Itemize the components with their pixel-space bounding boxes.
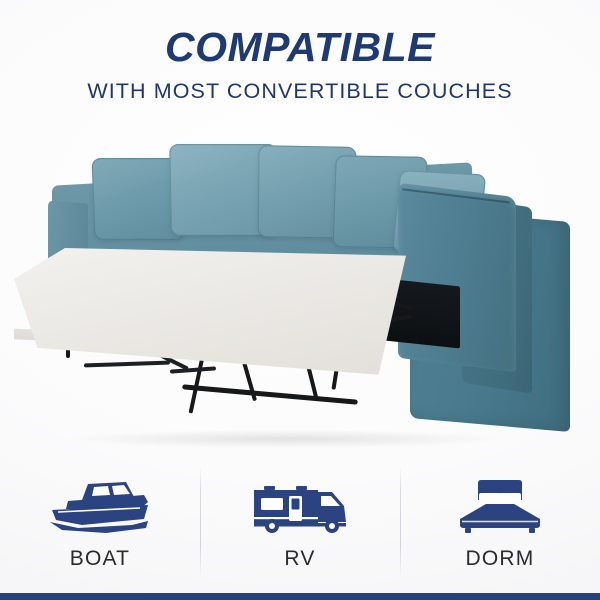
compatibility-icon-row: BOAT [0, 462, 600, 592]
bottom-accent-bar [0, 593, 600, 600]
rv-icon [248, 476, 352, 538]
icon-label-boat: BOAT [70, 547, 130, 571]
header: COMPATIBLE WITH MOST CONVERTIBLE COUCHES [0, 26, 600, 104]
icon-label-rv: RV [284, 547, 315, 571]
dorm-icon [448, 476, 552, 538]
compatibility-item-boat: BOAT [0, 462, 200, 592]
icon-label-dorm: DORM [466, 547, 535, 571]
boat-icon [48, 476, 152, 538]
compatibility-item-dorm: DORM [400, 462, 600, 592]
sleeper-sofa-photo [0, 130, 600, 460]
product-marketing-image: COMPATIBLE WITH MOST CONVERTIBLE COUCHES [0, 0, 600, 600]
ground-shadow [70, 430, 500, 448]
page-title: COMPATIBLE [0, 26, 600, 69]
page-subtitle: WITH MOST CONVERTIBLE COUCHES [0, 80, 600, 104]
compatibility-item-rv: RV [200, 462, 400, 592]
mattress-top [14, 248, 406, 376]
